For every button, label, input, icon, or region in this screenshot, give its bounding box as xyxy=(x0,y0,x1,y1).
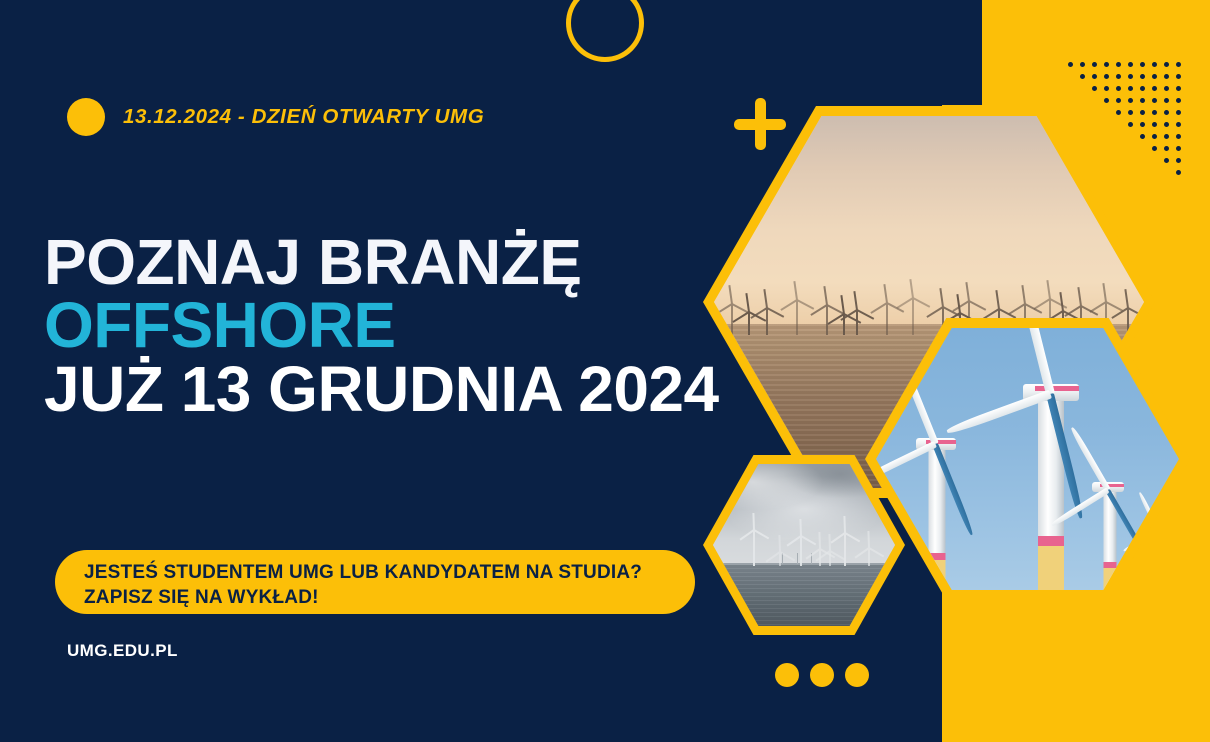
yellow-panel-notch xyxy=(942,0,982,105)
grid-dot xyxy=(1140,110,1145,115)
wind-turbine-silhouette xyxy=(826,306,828,335)
grid-dot xyxy=(1104,86,1109,91)
headline-line-1: POZNAJ BRANŻĘ xyxy=(44,231,719,294)
triangle-dot-grid-icon xyxy=(1068,62,1188,182)
dot-3 xyxy=(845,663,869,687)
grid-dot xyxy=(1080,62,1085,67)
grid-dot xyxy=(1116,110,1121,115)
grid-dot xyxy=(1164,146,1169,151)
dot-1 xyxy=(775,663,799,687)
grid-dot xyxy=(1176,98,1181,103)
website-url-label[interactable]: UMG.EDU.PL xyxy=(67,641,178,661)
wind-turbine-silhouette xyxy=(753,530,755,566)
grid-dot xyxy=(1128,74,1133,79)
grid-dot xyxy=(1164,86,1169,91)
grid-dot xyxy=(1152,134,1157,139)
page-title: POZNAJ BRANŻĘ OFFSHORE JUŻ 13 GRUDNIA 20… xyxy=(44,231,719,421)
grid-dot xyxy=(1176,146,1181,151)
grid-dot xyxy=(1128,98,1133,103)
grid-dot xyxy=(1164,62,1169,67)
grid-dot xyxy=(1164,74,1169,79)
grid-dot xyxy=(1116,98,1121,103)
grid-dot xyxy=(1104,62,1109,67)
wind-turbine-silhouette xyxy=(748,313,750,335)
headline-line-3: JUŻ 13 GRUDNIA 2024 xyxy=(44,358,719,421)
grid-dot xyxy=(1152,110,1157,115)
grid-dot xyxy=(1068,62,1073,67)
grid-dot xyxy=(1176,122,1181,127)
cta-line-2: ZAPISZ SIĘ NA WYKŁAD! xyxy=(84,585,695,610)
wind-turbine-silhouette xyxy=(766,309,768,335)
grid-dot xyxy=(1116,62,1121,67)
grid-dot xyxy=(1104,98,1109,103)
grid-dot xyxy=(1140,98,1145,103)
grid-dot xyxy=(1092,62,1097,67)
grid-dot xyxy=(1140,74,1145,79)
wind-turbine-silhouette xyxy=(912,299,914,335)
wind-turbine-silhouette xyxy=(796,301,798,335)
grid-dot xyxy=(1176,158,1181,163)
grid-dot xyxy=(1116,86,1121,91)
grid-dot xyxy=(1152,74,1157,79)
grid-dot xyxy=(1092,86,1097,91)
wind-turbine-silhouette xyxy=(844,533,846,566)
grid-dot xyxy=(1164,110,1169,115)
grid-dot xyxy=(1152,98,1157,103)
signup-cta-button[interactable]: JESTEŚ STUDENTEM UMG LUB KANDYDATEM NA S… xyxy=(55,550,695,614)
grid-dot xyxy=(1176,74,1181,79)
grid-dot xyxy=(1164,158,1169,163)
event-date-label: 13.12.2024 - DZIEŃ OTWARTY UMG xyxy=(123,105,484,129)
wind-turbine-silhouette xyxy=(779,552,781,566)
grid-dot xyxy=(1080,74,1085,79)
wind-turbine-silhouette xyxy=(843,315,845,335)
grid-dot xyxy=(1128,62,1133,67)
grid-dot xyxy=(1176,110,1181,115)
grid-dot xyxy=(1176,134,1181,139)
grid-dot xyxy=(1116,74,1121,79)
filled-circle-icon xyxy=(67,98,105,136)
grid-dot xyxy=(1152,146,1157,151)
grid-dot xyxy=(1104,74,1109,79)
grid-dot xyxy=(1176,62,1181,67)
grid-dot xyxy=(1140,122,1145,127)
poster-canvas: 13.12.2024 - DZIEŃ OTWARTY UMG POZNAJ BR… xyxy=(0,0,1210,742)
grid-dot xyxy=(1128,122,1133,127)
wind-turbine-silhouette xyxy=(856,311,858,335)
grid-dot xyxy=(1140,134,1145,139)
grid-dot xyxy=(1152,62,1157,67)
wind-turbine-silhouette xyxy=(800,536,802,566)
three-dots-icon xyxy=(775,663,869,687)
grid-dot xyxy=(1164,98,1169,103)
grid-dot xyxy=(1176,86,1181,91)
grid-dot xyxy=(1140,86,1145,91)
wind-turbine-silhouette xyxy=(829,551,831,566)
grid-dot xyxy=(1152,86,1157,91)
grid-dot xyxy=(1164,122,1169,127)
grid-dot xyxy=(1128,110,1133,115)
headline-line-2: OFFSHORE xyxy=(44,294,719,357)
circle-outline-icon xyxy=(566,0,644,62)
dot-2 xyxy=(810,663,834,687)
wind-turbine-silhouette xyxy=(886,304,888,335)
cta-line-1: JESTEŚ STUDENTEM UMG LUB KANDYDATEM NA S… xyxy=(84,560,695,585)
event-kicker: 13.12.2024 - DZIEŃ OTWARTY UMG xyxy=(67,98,484,136)
wind-turbine-silhouette xyxy=(868,548,870,566)
grid-dot xyxy=(1176,170,1181,175)
plus-icon xyxy=(734,98,786,150)
grid-dot xyxy=(1128,86,1133,91)
grid-dot xyxy=(1152,122,1157,127)
grid-dot xyxy=(1092,74,1097,79)
grid-dot xyxy=(1140,62,1145,67)
grid-dot xyxy=(1164,134,1169,139)
